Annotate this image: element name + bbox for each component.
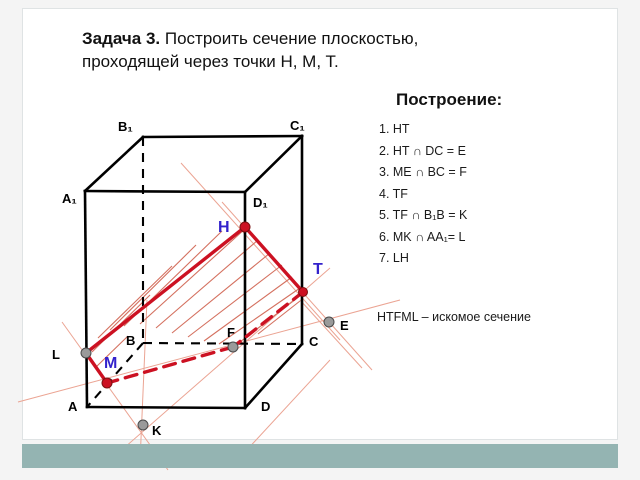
point-label-F: F xyxy=(227,326,235,339)
construction-steps-list: 1. HT 2. HT ∩ DC = E 3. ME ∩ BC = F 4. T… xyxy=(379,119,609,270)
point-E xyxy=(324,317,334,327)
point-H xyxy=(240,222,250,232)
page-title: Задача 3. Построить сечение плоскостью, … xyxy=(82,27,502,73)
construction-step-7: 7. LH xyxy=(379,248,609,270)
point-label-L: L xyxy=(52,348,60,361)
accent-bar xyxy=(22,444,618,468)
vertex-label-A1: A₁ xyxy=(62,192,77,205)
construction-step-5: 5. TF ∩ B₁B = K xyxy=(379,205,609,227)
construction-step-3: 3. ME ∩ BC = F xyxy=(379,162,609,184)
point-label-M: M xyxy=(104,356,117,372)
construction-heading: Построение: xyxy=(396,90,502,110)
slide-root: Задача 3. Построить сечение плоскостью, … xyxy=(0,0,640,480)
vertex-label-B: B xyxy=(126,334,135,347)
point-T xyxy=(299,288,308,297)
point-label-K: K xyxy=(152,424,161,437)
vertex-label-A: A xyxy=(68,400,77,413)
construction-step-2: 2. HT ∩ DC = E xyxy=(379,141,609,163)
vertex-label-C: C xyxy=(309,335,318,348)
auxiliary-lines xyxy=(18,163,400,470)
point-label-T: T xyxy=(313,262,323,278)
vertex-label-D1: D₁ xyxy=(253,196,268,209)
construction-step-4: 4. TF xyxy=(379,184,609,206)
vertex-label-B1: B₁ xyxy=(118,120,133,133)
vertex-label-D: D xyxy=(261,400,270,413)
construction-conclusion: HTFML – искомое сечение xyxy=(377,310,531,324)
vertex-label-C1: C₁ xyxy=(290,119,305,132)
task-line2-label: проходящей через точки H, M, T. xyxy=(82,52,339,71)
section-hatching xyxy=(92,228,300,368)
point-K xyxy=(138,420,148,430)
point-F xyxy=(228,342,238,352)
point-label-E: E xyxy=(340,319,349,332)
point-label-H: H xyxy=(218,220,230,236)
task-number-label: Задача 3. xyxy=(82,29,160,48)
point-L xyxy=(81,348,91,358)
task-line1-label: Построить сечение плоскостью, xyxy=(160,29,418,48)
construction-step-1: 1. HT xyxy=(379,119,609,141)
point-M xyxy=(102,378,112,388)
construction-step-6: 6. MK ∩ AA₁= L xyxy=(379,227,609,249)
